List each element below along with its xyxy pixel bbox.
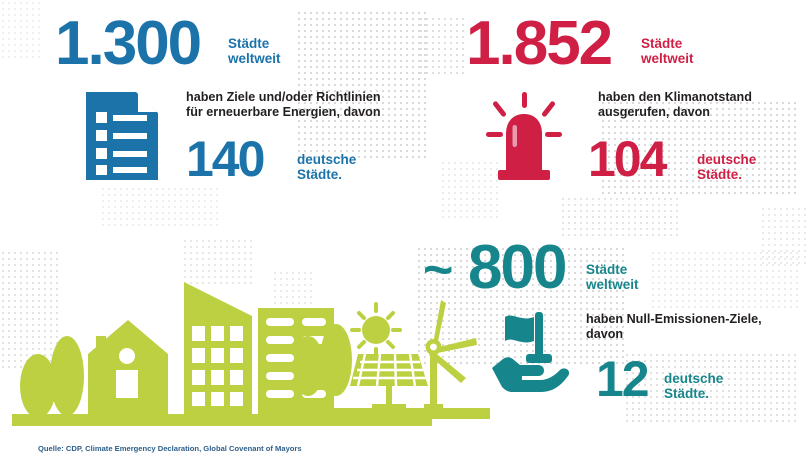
stat-unit-climate-emergency: Städte weltweit <box>641 36 694 66</box>
source-citation: Quelle: CDP, Climate Emergency Declarati… <box>38 445 778 453</box>
stat-description-zero-emission: haben Null-Emissionen-Ziele, davon <box>586 312 762 342</box>
emergency-siren-icon <box>486 92 562 185</box>
stat-number-zero-emission: 800 <box>468 241 565 296</box>
world-map-dots <box>760 206 807 266</box>
stat-sub-number-zero-emission: 12 <box>596 357 648 401</box>
world-map-dots <box>650 250 800 310</box>
world-map-dots <box>0 0 40 60</box>
renewable-energy-illustration <box>300 300 490 445</box>
stat-unit-zero-emission: Städte weltweit <box>586 262 639 292</box>
stat-sub-number-climate-emergency: 104 <box>588 137 665 181</box>
stat-sub-unit-zero-emission: deutsche Städte. <box>664 371 723 401</box>
stat-description-renewable-energy-targets: haben Ziele und/oder Richtlinien für ern… <box>186 90 381 120</box>
stat-description-climate-emergency: haben den Klimanotstand ausgerufen, davo… <box>598 90 752 120</box>
world-map-dots <box>296 10 428 160</box>
stat-sub-number-renewable-energy-targets: 140 <box>186 137 263 181</box>
stat-sub-unit-climate-emergency: deutsche Städte. <box>697 152 756 182</box>
world-map-dots <box>418 16 464 76</box>
stat-number-renewable-energy-targets: 1.300 <box>55 17 200 72</box>
stat-number-climate-emergency: 1.852 <box>466 17 611 72</box>
document-checklist-icon <box>86 92 158 185</box>
world-map-dots <box>100 186 220 226</box>
world-map-dots <box>560 196 680 236</box>
hand-holding-flag-icon <box>490 312 574 397</box>
stat-unit-renewable-energy-targets: Städte weltweit <box>228 36 281 66</box>
infographic-canvas: 1.300 Städte weltweit haben Ziele und/od… <box>0 0 807 454</box>
stat-sub-unit-renewable-energy-targets: deutsche Städte. <box>297 152 356 182</box>
